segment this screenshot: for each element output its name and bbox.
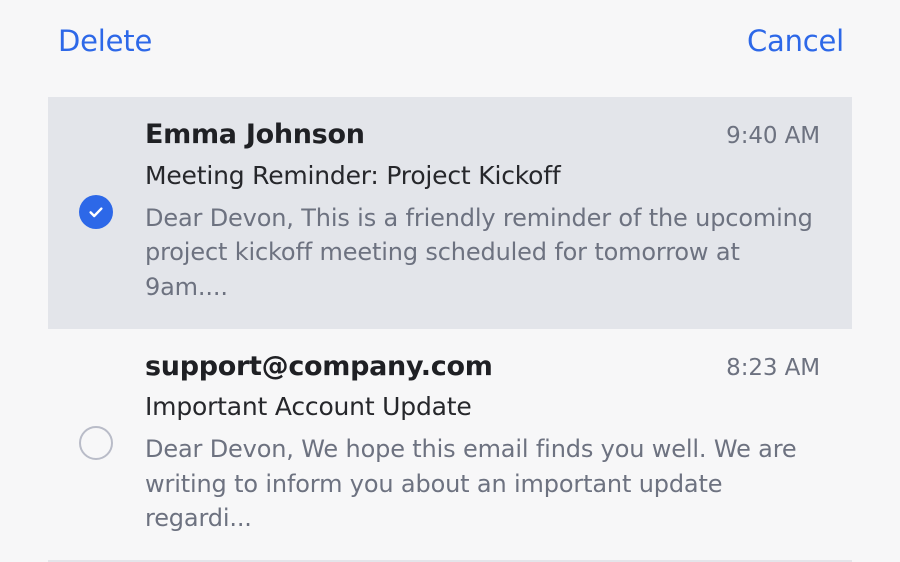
message-preview: Dear Devon, We hope this email finds you… bbox=[145, 432, 817, 536]
cancel-button[interactable]: Cancel bbox=[747, 27, 844, 56]
message-content: support@company.com 8:23 AM Important Ac… bbox=[145, 351, 852, 537]
message-timestamp: 9:40 AM bbox=[726, 123, 820, 150]
message-header-line: Emma Johnson 9:40 AM bbox=[145, 119, 820, 151]
check-filled-circle-icon[interactable] bbox=[79, 195, 113, 229]
list-item[interactable]: support@company.com 8:23 AM Important Ac… bbox=[48, 329, 852, 561]
message-header-line: support@company.com 8:23 AM bbox=[145, 351, 820, 383]
sender-name: support@company.com bbox=[145, 351, 493, 383]
message-content: Emma Johnson 9:40 AM Meeting Reminder: P… bbox=[145, 119, 852, 305]
message-subject: Meeting Reminder: Project Kickoff bbox=[145, 161, 820, 191]
delete-button[interactable]: Delete bbox=[58, 27, 152, 56]
message-timestamp: 8:23 AM bbox=[726, 355, 820, 382]
email-selection-screen: Delete Cancel Emma Johnson 9:40 AM Meeti… bbox=[0, 0, 900, 526]
message-preview: Dear Devon, This is a friendly reminder … bbox=[145, 201, 817, 305]
message-list: Emma Johnson 9:40 AM Meeting Reminder: P… bbox=[0, 97, 900, 562]
list-item[interactable]: Emma Johnson 9:40 AM Meeting Reminder: P… bbox=[48, 97, 852, 329]
selection-toolbar: Delete Cancel bbox=[0, 0, 900, 82]
selection-control-cell bbox=[48, 195, 145, 229]
empty-circle-icon[interactable] bbox=[79, 426, 113, 460]
selection-control-cell bbox=[48, 426, 145, 460]
message-subject: Important Account Update bbox=[145, 392, 820, 422]
sender-name: Emma Johnson bbox=[145, 119, 365, 151]
